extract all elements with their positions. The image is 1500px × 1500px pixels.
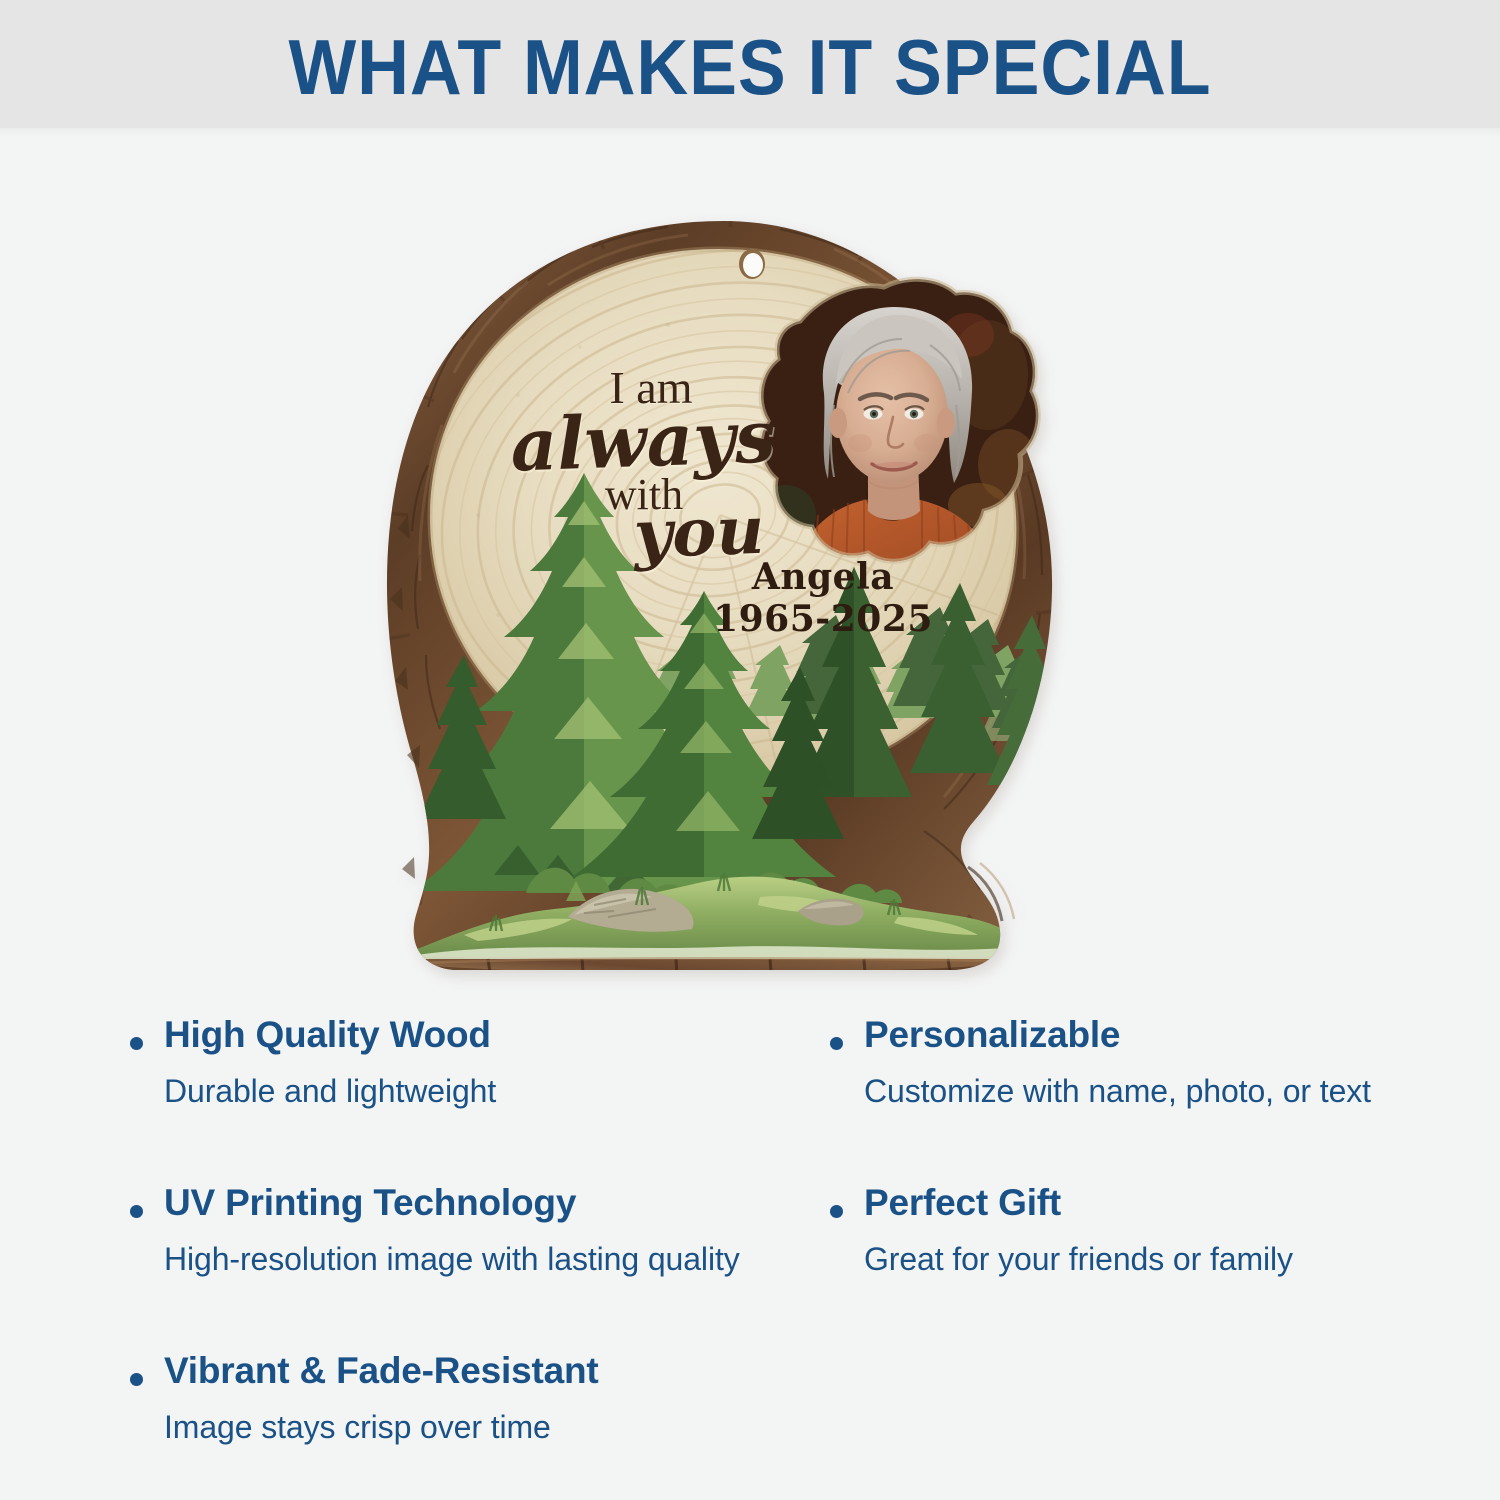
hanging-hole-icon (739, 249, 765, 279)
feature-item-perfect-gift: Perfect Gift Great for your friends or f… (818, 1178, 1458, 1282)
feature-description: Great for your friends or family (864, 1236, 1458, 1282)
product-image-stage: I am always with you Angela 1965-2025 (0, 150, 1500, 1000)
feature-title: Perfect Gift (864, 1178, 1458, 1228)
feature-item-uv-printing-technology: UV Printing Technology High-resolution i… (118, 1178, 818, 1282)
header-band-divider (0, 128, 1500, 138)
page-title: WHAT MAKES IT SPECIAL (60, 22, 1440, 112)
ornament-illustration (368, 215, 1068, 1005)
feature-description: High-resolution image with lasting quali… (164, 1236, 818, 1282)
feature-description: Customize with name, photo, or text (864, 1068, 1458, 1114)
bullet-icon (130, 1037, 143, 1050)
feature-title: Personalizable (864, 1010, 1458, 1060)
feature-title: Vibrant & Fade-Resistant (164, 1346, 818, 1396)
feature-column-right: Personalizable Customize with name, phot… (818, 1010, 1458, 1346)
feature-description: Image stays crisp over time (164, 1404, 818, 1450)
feature-item-high-quality-wood: High Quality Wood Durable and lightweigh… (118, 1010, 818, 1114)
bullet-icon (130, 1373, 143, 1386)
bullet-icon (830, 1037, 843, 1050)
feature-column-left: High Quality Wood Durable and lightweigh… (118, 1010, 818, 1500)
product-ornament: I am always with you Angela 1965-2025 (368, 215, 1068, 1005)
bullet-icon (830, 1205, 843, 1218)
feature-item-vibrant-fade-resistant: Vibrant & Fade-Resistant Image stays cri… (118, 1346, 818, 1450)
ornament-base (408, 958, 1028, 1005)
feature-title: High Quality Wood (164, 1010, 818, 1060)
feature-list: High Quality Wood Durable and lightweigh… (0, 1010, 1500, 1450)
feature-item-personalizable: Personalizable Customize with name, phot… (818, 1010, 1458, 1114)
feature-title: UV Printing Technology (164, 1178, 818, 1228)
bullet-icon (130, 1205, 143, 1218)
feature-description: Durable and lightweight (164, 1068, 818, 1114)
